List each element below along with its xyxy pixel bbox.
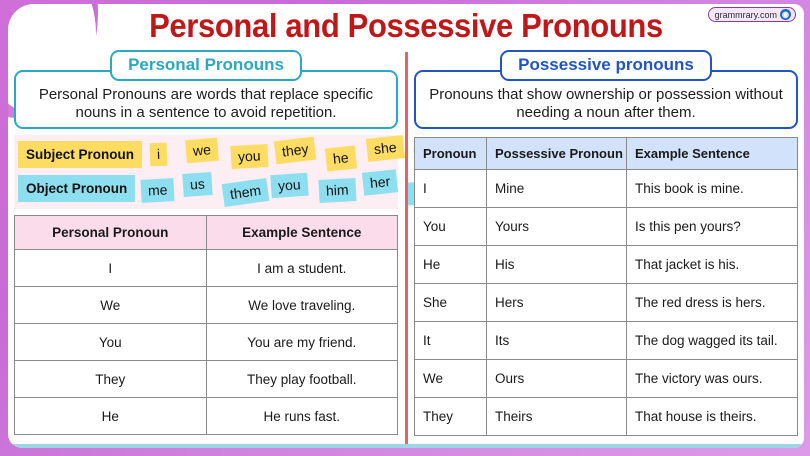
table-row: You You are my friend. [15,324,398,361]
col-header-possessive-pronoun: Possessive Pronoun [487,138,627,170]
table-row: She Hers The red dress is hers. [415,284,798,322]
poster: Personal and Possessive Pronouns grammra… [0,0,810,456]
chip-subject-1: i [150,143,168,167]
cell-pronoun: It [415,322,487,360]
table-row: He His That jacket is his. [415,246,798,284]
cell-possessive: His [487,246,627,284]
col-header-pronoun: Pronoun [415,138,487,170]
cell-pronoun: We [415,360,487,398]
cell-example: They play football. [206,361,398,398]
cell-example: The red dress is hers. [627,284,798,322]
poster-card: Personal and Possessive Pronouns grammra… [8,4,804,448]
chip-subject-2: we [185,138,219,164]
poster-header: Personal and Possessive Pronouns grammra… [8,4,804,50]
cell-pronoun: She [415,284,487,322]
table-row: I Mine This book is mine. [415,170,798,208]
brand-badge[interactable]: grammrary.com ◉ [708,7,796,22]
cell-possessive: Hers [487,284,627,322]
cell-possessive: Yours [487,208,627,246]
page-title: Personal and Possessive Pronouns [32,7,780,45]
table-header-row: Pronoun Possessive Pronoun Example Sente… [415,138,798,170]
cell-pronoun: You [415,208,487,246]
possessive-pronouns-heading: Possessive pronouns [500,50,712,81]
chip-object-5: him [319,178,357,203]
cell-pronoun: They [15,361,207,398]
cell-example: He runs fast. [206,398,398,435]
cell-possessive: Theirs [487,398,627,436]
table-row: They Theirs That house is theirs. [415,398,798,436]
chip-object-4: you [270,173,308,198]
subject-pronoun-label: Subject Pronoun [18,141,142,168]
chip-subject-6: she [366,136,405,163]
cell-example: You are my friend. [206,324,398,361]
column-divider [405,52,408,444]
content-columns: Personal Pronouns Personal Pronouns are … [8,50,804,448]
table-row: It Its The dog wagged its tail. [415,322,798,360]
cell-possessive: Mine [487,170,627,208]
cell-example: We love traveling. [206,287,398,324]
chip-object-3: them [222,178,270,207]
table-header-row: Personal Pronoun Example Sentence [15,216,398,250]
cell-example: The victory was ours. [627,360,798,398]
table-row: You Yours Is this pen yours? [415,208,798,246]
cell-example: The dog wagged its tail. [627,322,798,360]
cell-pronoun: He [15,398,207,435]
cell-pronoun: You [15,324,207,361]
object-pronoun-label: Object Pronoun [18,175,135,202]
subject-pronoun-row: Subject Pronoun i we you they he she it [18,139,398,169]
personal-pronouns-section: Personal Pronouns Personal Pronouns are … [8,50,404,448]
cell-possessive: Ours [487,360,627,398]
cell-pronoun: I [15,250,207,287]
possessive-pronouns-table: Pronoun Possessive Pronoun Example Sente… [414,137,798,436]
globe-icon: ◉ [780,9,791,20]
chip-object-6: her [362,170,398,196]
table-row: We Ours The victory was ours. [415,360,798,398]
cell-example: I am a student. [206,250,398,287]
pronoun-tag-band: Subject Pronoun i we you they he she it … [14,135,398,209]
personal-pronouns-heading: Personal Pronouns [110,50,302,81]
cell-pronoun: He [415,246,487,284]
cell-pronoun: We [15,287,207,324]
cell-example: That jacket is his. [627,246,798,284]
table-row: I I am a student. [15,250,398,287]
cell-pronoun: They [415,398,487,436]
subject-pronoun-chips: i we you they he she it [142,139,398,169]
col-header-personal-pronoun: Personal Pronoun [15,216,207,250]
table-row: He He runs fast. [15,398,398,435]
chip-subject-3: you [230,144,268,169]
possessive-pronouns-section: Possessive pronouns Pronouns that show o… [404,50,804,448]
chip-object-1: me [141,179,176,204]
cell-example: This book is mine. [627,170,798,208]
table-row: They They play football. [15,361,398,398]
object-pronoun-row: Object Pronoun me us them you him her it [18,173,398,203]
object-pronoun-chips: me us them you him her it [135,173,398,203]
cell-example: That house is theirs. [627,398,798,436]
cell-pronoun: I [415,170,487,208]
chip-subject-4: they [274,137,317,165]
col-header-example-sentence: Example Sentence [627,138,798,170]
brand-label: grammrary.com [715,10,777,20]
chip-subject-5: he [325,146,357,172]
chip-object-2: us [182,172,212,197]
personal-pronouns-table: Personal Pronoun Example Sentence I I am… [14,215,398,435]
table-row: We We love traveling. [15,287,398,324]
col-header-example-sentence: Example Sentence [206,216,398,250]
cell-possessive: Its [487,322,627,360]
cell-example: Is this pen yours? [627,208,798,246]
